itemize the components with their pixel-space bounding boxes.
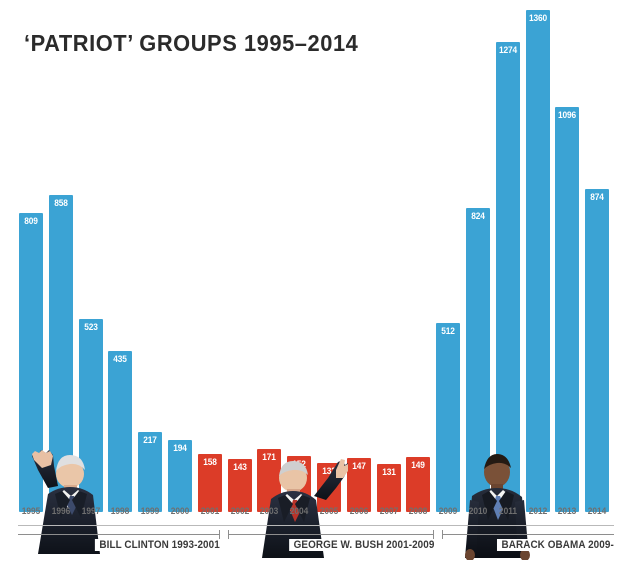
infographic-canvas: ‘PATRIOT’ GROUPS 1995–2014 8098585234352…: [0, 0, 630, 562]
x-axis-year-label-2014: 2014: [584, 506, 610, 517]
bar-value-label-1996: 858: [50, 198, 71, 209]
term-rule: [18, 534, 220, 535]
x-axis-year-label-2007: 2007: [375, 506, 401, 517]
bar-2014: 874: [585, 189, 609, 512]
x-axis-year-label-2011: 2011: [495, 506, 521, 517]
term-label-clinton: BILL CLINTON 1993-2001: [95, 539, 220, 551]
term-label-bush: GEORGE W. BUSH 2001-2009: [289, 539, 434, 551]
bar-2000: 194: [168, 440, 192, 512]
x-axis-year-label-2000: 2000: [167, 506, 193, 517]
bar-2012: 1360: [526, 10, 550, 512]
bar-value-label-2007: 131: [378, 467, 399, 478]
term-rule: [228, 534, 434, 535]
bar-value-label-1997: 523: [80, 322, 101, 333]
bar-2008: 149: [406, 457, 430, 512]
bar-value-label-1995: 809: [20, 216, 41, 227]
x-axis-year-label-2001: 2001: [197, 506, 223, 517]
bar-2007: 131: [377, 464, 401, 512]
bar-value-label-2000: 194: [169, 443, 190, 454]
term-tick-right: [219, 530, 220, 539]
x-axis-year-label-1997: 1997: [77, 506, 103, 517]
bar-value-label-2008: 149: [408, 460, 429, 471]
bar-value-label-2011: 1274: [497, 45, 518, 56]
x-axis-year-label-2002: 2002: [226, 506, 252, 517]
x-axis-year-label-1996: 1996: [48, 506, 74, 517]
term-tick-left: [442, 530, 443, 539]
x-axis-year-label-2010: 2010: [465, 506, 491, 517]
bar-2013: 1096: [555, 107, 579, 512]
x-axis-year-label-2012: 2012: [524, 506, 550, 517]
bar-value-label-2012: 1360: [527, 13, 548, 24]
bar-value-label-1998: 435: [110, 354, 131, 365]
x-axis-line: [18, 525, 614, 526]
x-axis-year-label-1998: 1998: [107, 506, 133, 517]
term-tick-left: [228, 530, 229, 539]
x-axis-year-label-2006: 2006: [346, 506, 372, 517]
x-axis-year-label-1999: 1999: [137, 506, 163, 517]
bar-1999: 217: [138, 432, 162, 512]
term-bracket-clinton: BILL CLINTON 1993-2001: [18, 528, 220, 558]
bar-value-label-1999: 217: [140, 435, 161, 446]
x-axis-year-label-2009: 2009: [435, 506, 461, 517]
term-bracket-obama: BARACK OBAMA 2009-: [442, 528, 614, 558]
bar-value-label-2001: 158: [199, 457, 220, 468]
x-axis-year-label-2003: 2003: [256, 506, 282, 517]
term-bracket-bush: GEORGE W. BUSH 2001-2009: [228, 528, 434, 558]
bar-2001: 158: [198, 454, 222, 512]
term-tick-right: [433, 530, 434, 539]
bar-value-label-2009: 512: [438, 326, 459, 337]
bar-value-label-2014: 874: [587, 192, 608, 203]
x-axis-year-label-2008: 2008: [405, 506, 431, 517]
x-axis-year-label-1995: 1995: [18, 506, 44, 517]
bar-chart-plot-area: 8098585234352171941581431711521321471311…: [0, 0, 630, 512]
x-axis-year-label-2013: 2013: [554, 506, 580, 517]
bar-value-label-2013: 1096: [557, 110, 578, 121]
x-axis-year-label-2004: 2004: [286, 506, 312, 517]
term-label-obama: BARACK OBAMA 2009-: [497, 539, 614, 551]
term-rule: [442, 534, 614, 535]
bar-value-label-2010: 824: [467, 211, 488, 222]
x-axis-year-label-2005: 2005: [316, 506, 342, 517]
